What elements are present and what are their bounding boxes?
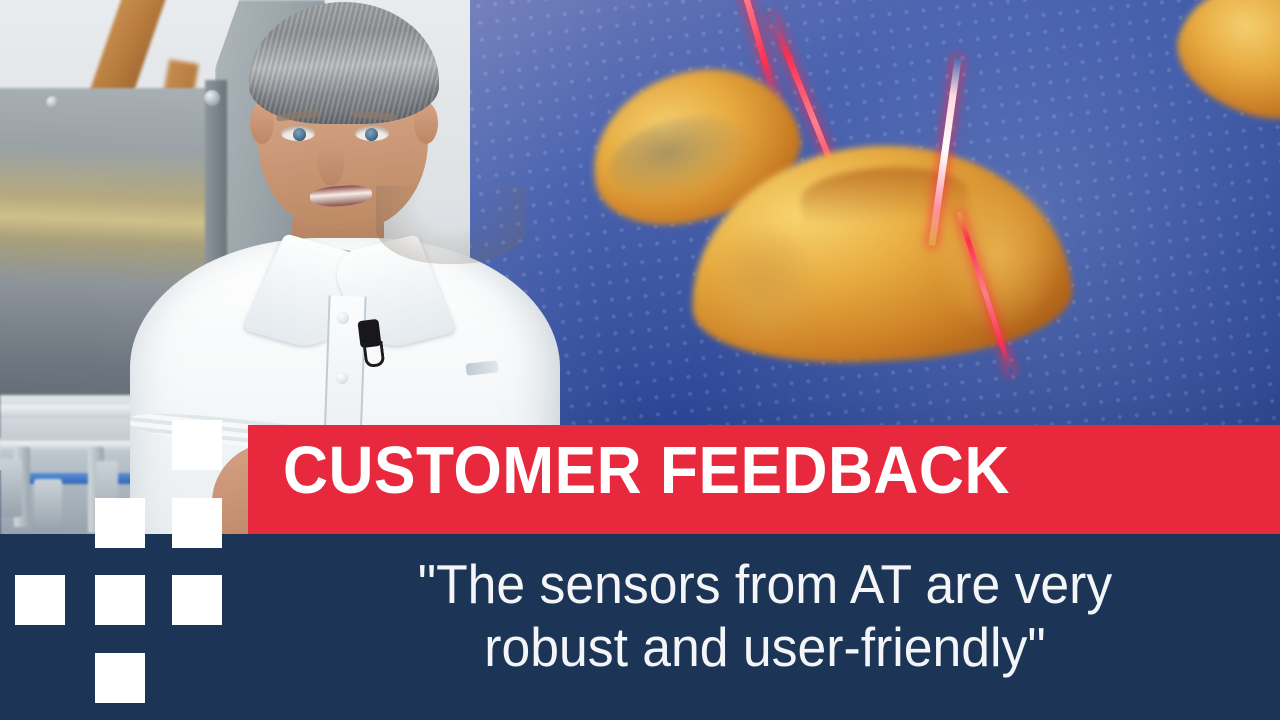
machine-block	[0, 459, 22, 517]
logo-square	[172, 420, 222, 470]
logo-square	[95, 498, 145, 548]
bolt-icon	[46, 96, 59, 109]
logo-square	[172, 575, 222, 625]
eye-right	[355, 126, 389, 141]
customer-quote: "The sensors from AT are very robust and…	[281, 553, 1249, 678]
headline-text: CUSTOMER FEEDBACK	[283, 437, 1010, 504]
stubble	[376, 186, 526, 264]
nose	[318, 138, 344, 186]
hair	[249, 2, 439, 124]
iris-left	[293, 128, 306, 141]
logo-square	[95, 653, 145, 703]
quote-line-2: robust and user-friendly"	[281, 616, 1249, 679]
logo-square	[172, 498, 222, 548]
logo-square	[15, 575, 65, 625]
eye-left	[281, 126, 315, 141]
shirt-button	[337, 312, 349, 324]
croissant-center	[685, 136, 1076, 371]
iris-right	[365, 128, 378, 141]
quote-line-1: "The sensors from AT are very	[281, 553, 1249, 616]
microphone-clip	[363, 341, 386, 368]
machine-block	[34, 479, 62, 531]
hair-strands	[249, 2, 439, 124]
video-thumbnail: CUSTOMER FEEDBACK "The sensors from AT a…	[0, 0, 1280, 720]
logo-square	[95, 575, 145, 625]
shirt-button	[336, 372, 348, 384]
